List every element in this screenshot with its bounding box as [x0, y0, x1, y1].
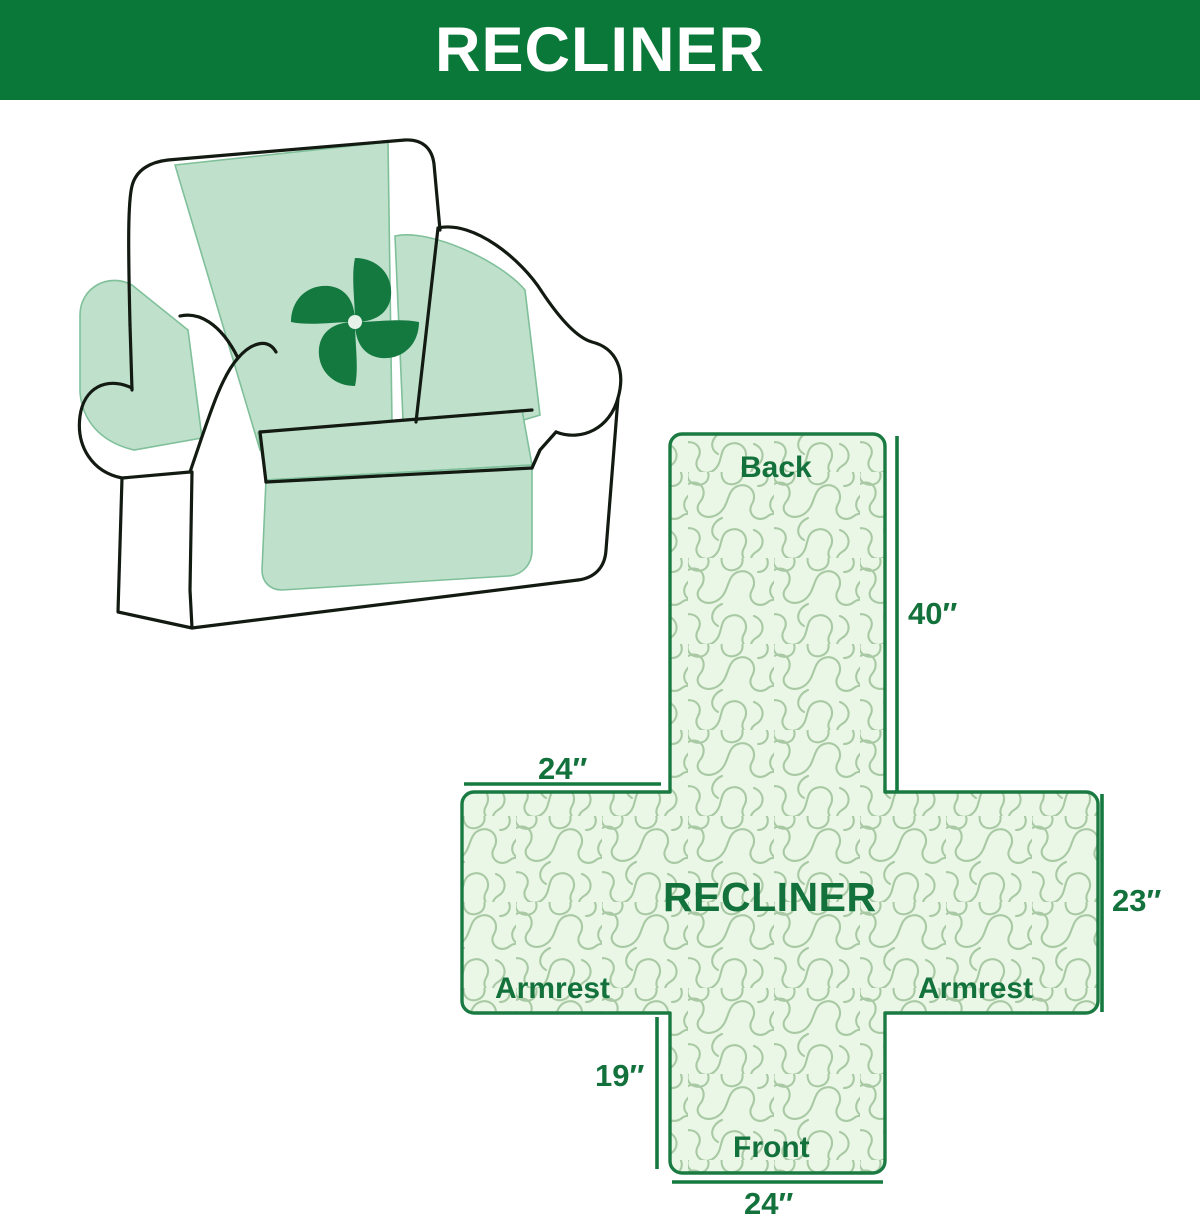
- chair-left-armrest-cover: [80, 280, 202, 450]
- panel-label-front: Front: [733, 1133, 810, 1163]
- dimension-label-center-height: 23″: [1112, 885, 1161, 916]
- slipcover-pattern-diagram: [430, 300, 1190, 1200]
- panel-label-armrest-left: Armrest: [495, 974, 610, 1004]
- dimension-label-front-width: 24″: [744, 1188, 793, 1219]
- dimension-label-armrest-width: 24″: [538, 753, 587, 784]
- panel-label-back: Back: [740, 453, 812, 483]
- panel-label-recliner: RECLINER: [663, 877, 877, 918]
- dimension-label-front-height: 19″: [595, 1060, 644, 1091]
- page-title: RECLINER: [435, 19, 765, 82]
- diagram-stage: Back RECLINER Armrest Armrest Front 40″ …: [0, 100, 1200, 1200]
- header-banner: RECLINER: [0, 0, 1200, 100]
- cross-pattern-shape: [462, 434, 1098, 1173]
- dimension-label-back-height: 40″: [908, 598, 957, 629]
- panel-label-armrest-right: Armrest: [918, 974, 1033, 1004]
